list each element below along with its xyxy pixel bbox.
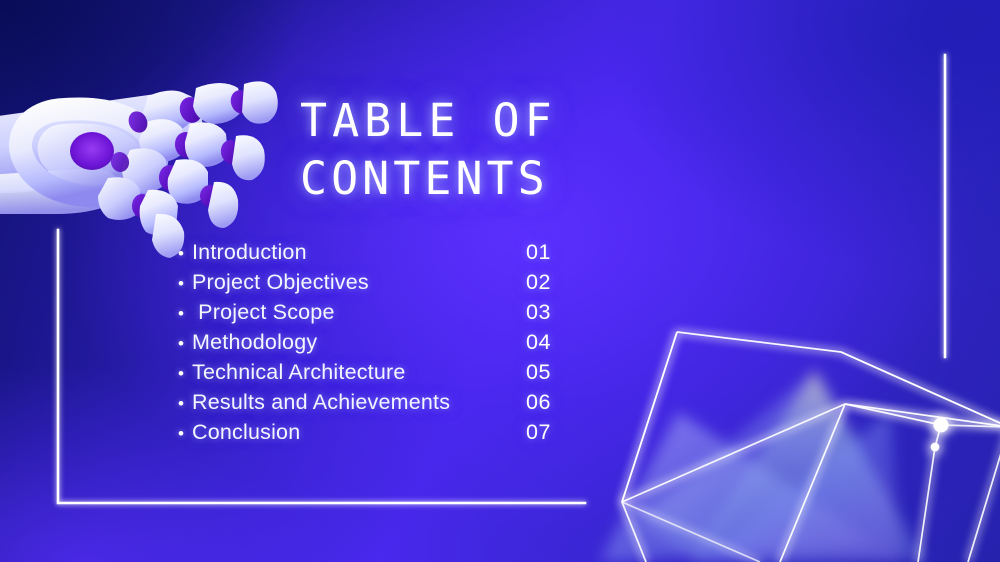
list-item[interactable]: • Results and Achievements 06	[178, 388, 588, 418]
title-line-1: TABLE OF	[300, 92, 760, 150]
bullet-icon: •	[178, 335, 192, 352]
list-item[interactable]: • Introduction 01	[178, 238, 588, 268]
bullet-icon: •	[178, 275, 192, 292]
list-item-number: 03	[526, 302, 588, 324]
list-item-number: 06	[526, 392, 588, 414]
bullet-icon: •	[178, 365, 192, 382]
list-item-number: 01	[526, 242, 588, 264]
table-of-contents-list: • Introduction 01 • Project Objectives 0…	[178, 238, 588, 448]
list-item[interactable]: • Technical Architecture 05	[178, 358, 588, 388]
list-item[interactable]: • Methodology 04	[178, 328, 588, 358]
list-item-label: Results and Achievements	[192, 392, 526, 414]
list-item-label: Methodology	[192, 332, 526, 354]
slide-canvas: TABLE OF CONTENTS • Introduction 01 • Pr…	[0, 0, 1000, 562]
list-item-number: 05	[526, 362, 588, 384]
bullet-icon: •	[178, 425, 192, 442]
list-item[interactable]: • Project Objectives 02	[178, 268, 588, 298]
list-item-number: 04	[526, 332, 588, 354]
list-item[interactable]: • Conclusion 07	[178, 418, 588, 448]
list-item-label: Project Scope	[192, 302, 526, 324]
list-item-label: Technical Architecture	[192, 362, 526, 384]
bullet-icon: •	[178, 395, 192, 412]
bullet-icon: •	[178, 245, 192, 262]
list-item-number: 02	[526, 272, 588, 294]
title-line-2: CONTENTS	[300, 150, 760, 208]
list-item[interactable]: • Project Scope 03	[178, 298, 588, 328]
bullet-icon: •	[178, 305, 192, 322]
list-item-label: Project Objectives	[192, 272, 526, 294]
list-item-label: Conclusion	[192, 422, 526, 444]
page-title: TABLE OF CONTENTS	[300, 92, 760, 208]
list-item-number: 07	[526, 422, 588, 444]
list-item-label: Introduction	[192, 242, 526, 264]
